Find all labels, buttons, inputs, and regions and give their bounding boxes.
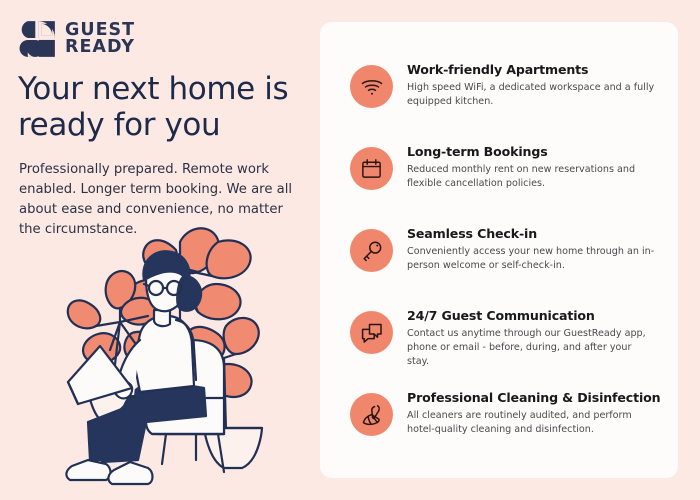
brand-wordmark: GUEST READY: [65, 22, 135, 56]
features-card: Work-friendly Apartments High speed WiFi…: [320, 22, 678, 478]
feature-description: Contact us anytime through our GuestRead…: [407, 327, 655, 368]
guestready-quadrant-logo-icon: [18, 20, 56, 58]
feature-description: Reduced monthly rent on new reservations…: [407, 163, 655, 190]
feature-text: 24/7 Guest Communication Contact us anyt…: [407, 309, 655, 368]
brand-name-line-2: READY: [65, 39, 135, 56]
list-item[interactable]: Professional Cleaning & Disinfection All…: [350, 391, 670, 437]
key-icon: [350, 229, 393, 272]
feature-text: Long-term Bookings Reduced monthly rent …: [407, 145, 655, 191]
calendar-icon: [350, 147, 393, 190]
brand-logo[interactable]: GUEST READY: [18, 20, 135, 58]
feature-title: Professional Cleaning & Disinfection: [407, 391, 660, 405]
feature-title: 24/7 Guest Communication: [407, 309, 655, 323]
broom-icon: [350, 393, 393, 436]
feature-title: Long-term Bookings: [407, 145, 655, 159]
feature-text: Professional Cleaning & Disinfection All…: [407, 391, 660, 437]
feature-title: Work-friendly Apartments: [407, 63, 655, 77]
hero-headline: Your next home is ready for you: [18, 72, 308, 144]
list-item[interactable]: Seamless Check-in Conveniently access yo…: [350, 227, 670, 273]
hero-panel: GUEST READY Your next home is ready for …: [0, 0, 320, 500]
feature-description: All cleaners are routinely audited, and …: [407, 409, 655, 436]
list-item[interactable]: 24/7 Guest Communication Contact us anyt…: [350, 309, 670, 368]
promo-page: GUEST READY Your next home is ready for …: [0, 0, 700, 500]
feature-description: Conveniently access your new home throug…: [407, 245, 655, 272]
feature-text: Work-friendly Apartments High speed WiFi…: [407, 63, 655, 109]
list-item[interactable]: Long-term Bookings Reduced monthly rent …: [350, 145, 670, 191]
chat-bubbles-icon: [350, 311, 393, 354]
feature-title: Seamless Check-in: [407, 227, 655, 241]
list-item[interactable]: Work-friendly Apartments High speed WiFi…: [350, 63, 670, 109]
feature-text: Seamless Check-in Conveniently access yo…: [407, 227, 655, 273]
feature-description: High speed WiFi, a dedicated workspace a…: [407, 81, 655, 108]
wifi-icon: [350, 65, 393, 108]
hero-illustration: [28, 222, 312, 494]
